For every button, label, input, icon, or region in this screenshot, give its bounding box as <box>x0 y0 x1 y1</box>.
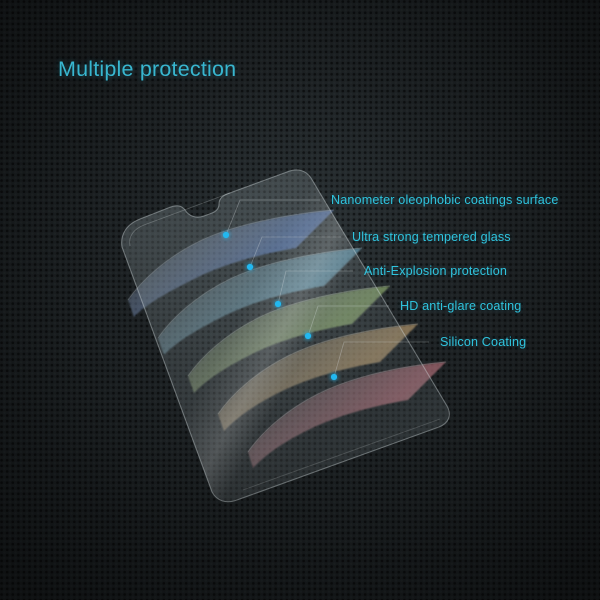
page-title: Multiple protection <box>58 57 236 82</box>
callout-label-anti-explosion: Anti-Explosion protection <box>364 264 507 278</box>
callout-label-nanometer-oleophobic: Nanometer oleophobic coatings surface <box>331 193 558 207</box>
callout-dot-2 <box>247 264 253 270</box>
callout-label-hd-anti-glare: HD anti-glare coating <box>400 299 521 313</box>
callout-label-tempered-glass: Ultra strong tempered glass <box>352 230 511 244</box>
callout-dot-4 <box>305 333 311 339</box>
screen-protector-infographic: Multiple protection Nanometer oleophobic… <box>0 0 600 600</box>
callout-label-silicon-coating: Silicon Coating <box>440 335 526 349</box>
screen-protector-glass <box>122 170 450 502</box>
callout-dot-3 <box>275 301 281 307</box>
callout-dot-1 <box>223 232 229 238</box>
callout-dot-5 <box>331 374 337 380</box>
